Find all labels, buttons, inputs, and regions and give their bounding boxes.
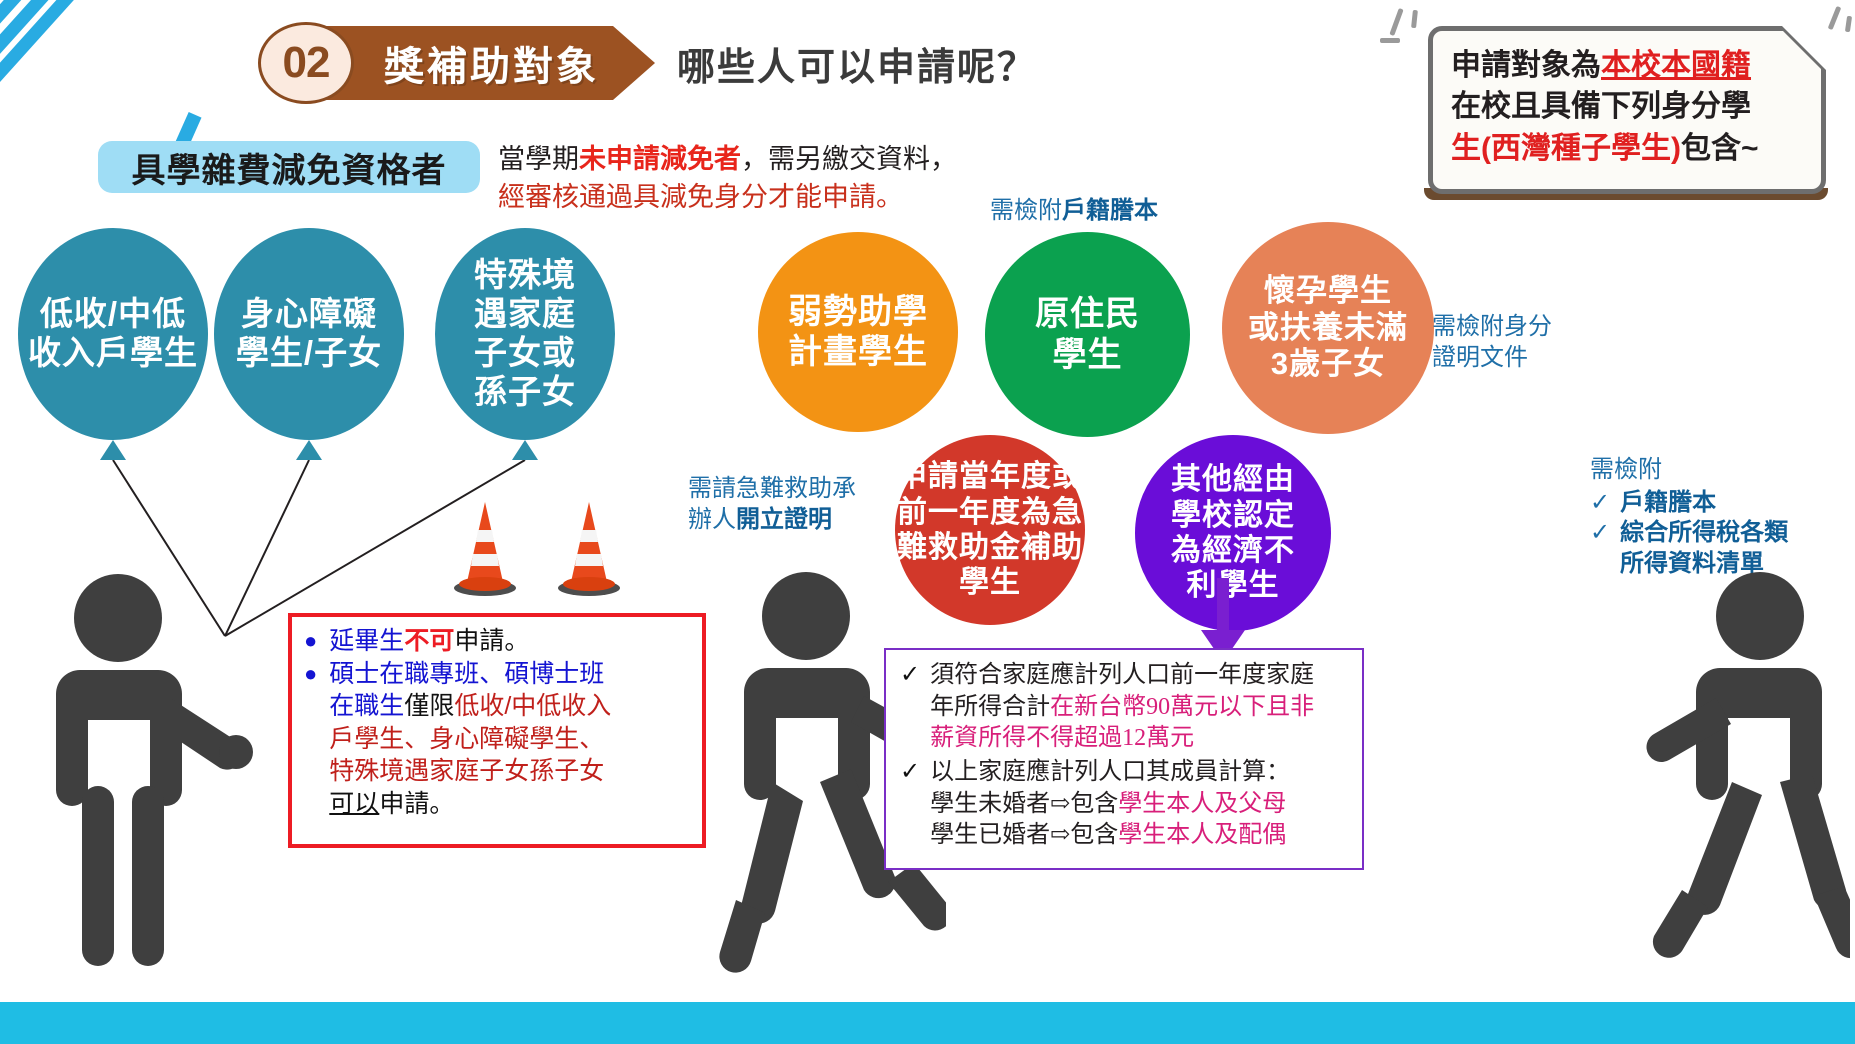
criteria-2-line2-black: 學生未婚者⇨包含 — [930, 791, 1118, 817]
sparkle-icon-left — [1380, 8, 1426, 52]
annotation-required-header: 需檢附 — [1590, 455, 1840, 486]
check-icon-1: ✓ — [1590, 488, 1610, 519]
circle-weak-support-plan-label: 弱勢助學 計畫學生 — [788, 292, 928, 372]
criteria-2-line3-pink: 學生本人及配偶 — [1118, 822, 1286, 848]
traffic-cone-icon-2 — [556, 498, 622, 596]
annotation-household-bold: 戶籍謄本 — [1062, 197, 1158, 224]
annotation-household-doc: 需檢附戶籍謄本 — [990, 196, 1158, 227]
exception-1-seg-black: 申請。 — [454, 627, 529, 655]
exception-2-line5-underline: 可以 — [329, 790, 379, 818]
annotation-required-item-1: ✓ 戶籍謄本 — [1590, 488, 1840, 519]
waiver-note-seg2: 未申請減免者 — [579, 144, 741, 174]
note-text-red: 生(西灣種子學生) — [1451, 132, 1681, 165]
criteria-item-1: ✓ 須符合家庭應計列人口前一年度家庭 年所得合計在新台幣90萬元以下且非 薪資所… — [900, 660, 1352, 755]
balloon-disability: 身心障礙 學生/子女 — [214, 228, 404, 440]
criteria-item-2: ✓ 以上家庭應計列人口其成員計算： 學生未婚者⇨包含學生本人及父母 學生已婚者⇨… — [900, 757, 1352, 852]
annotation-identity-line1: 需檢附身分 — [1432, 312, 1562, 343]
annotation-required-item-2: ✓ 綜合所得稅各類 — [1590, 518, 1840, 549]
note-text-highlight: 本校本國籍 — [1601, 49, 1751, 82]
criteria-1-line1: 須符合家庭應計列人口前一年度家庭 — [930, 662, 1314, 688]
section-number-badge: 02 — [258, 22, 354, 104]
balloon-special-circumstance: 特殊境 遇家庭 子女或 孫子女 — [435, 228, 615, 440]
exception-2-line4: 特殊境遇家庭子女孫子女 — [329, 757, 604, 785]
eligibility-exceptions-box: ● 延畢生不可申請。 ● 碩士在職專班、碩博士班 在職生僅限低收/中低收入 戶學… — [288, 613, 706, 848]
annotation-required-documents: 需檢附 ✓ 戶籍謄本 ✓ 綜合所得稅各類 所得資料清單 — [1590, 455, 1840, 580]
exception-item-1-text: 延畢生不可申請。 — [329, 625, 692, 658]
person-pictogram-right — [1620, 570, 1850, 1000]
section-title-label: 獎補助對象 — [384, 34, 599, 92]
balloon-low-income: 低收/中低 收入戶學生 — [18, 228, 208, 440]
balloon-disability-label: 身心障礙 學生/子女 — [236, 295, 382, 373]
waiver-note-seg3: ，需另繳交資料， — [741, 144, 957, 174]
exception-2-line2-red: 低收/中低收入 — [454, 692, 611, 720]
annotation-emergency-line2: 辦人開立證明 — [688, 505, 903, 536]
exception-2-line3: 戶學生、身心障礙學生、 — [329, 725, 604, 753]
exception-item-2-text: 碩士在職專班、碩博士班 在職生僅限低收/中低收入 戶學生、身心障礙學生、 特殊境… — [329, 658, 692, 821]
waiver-note-seg1: 當學期 — [498, 144, 579, 174]
balloon-knot-2 — [296, 440, 322, 460]
annotation-required-item-1-label: 戶籍謄本 — [1620, 488, 1716, 519]
section-number: 02 — [283, 38, 330, 88]
criteria-item-1-text: 須符合家庭應計列人口前一年度家庭 年所得合計在新台幣90萬元以下且非 薪資所得不… — [930, 660, 1352, 755]
exception-2-line2-black: 僅限 — [404, 692, 454, 720]
annotation-emergency-line2-bold: 開立證明 — [736, 506, 832, 533]
criteria-item-2-text: 以上家庭應計列人口其成員計算： 學生未婚者⇨包含學生本人及父母 學生已婚者⇨包含… — [930, 757, 1352, 852]
check-icon-criteria-1: ✓ — [900, 660, 920, 755]
tuition-waiver-badge-label: 具學雜費減免資格者 — [132, 143, 447, 192]
tuition-waiver-badge: 具學雜費減免資格者 — [98, 141, 480, 193]
annotation-emergency-line2-prefix: 辦人 — [688, 506, 736, 533]
person-pictogram-left — [40, 570, 260, 1000]
note-line-3: 生(西灣種子學生)包含~ — [1451, 128, 1807, 169]
waiver-note-seg4: 經審核通過具減免身分才能申請。 — [498, 182, 903, 212]
exception-item-2: ● 碩士在職專班、碩博士班 在職生僅限低收/中低收入 戶學生、身心障礙學生、 特… — [304, 658, 692, 821]
note-line-1: 申請對象為本校本國籍 — [1451, 45, 1807, 86]
footer-band — [0, 1002, 1855, 1044]
check-icon-2: ✓ — [1590, 518, 1610, 549]
circle-indigenous-label: 原住民 學生 — [1035, 294, 1140, 374]
criteria-2-line1: 以上家庭應計列人口其成員計算： — [930, 759, 1290, 785]
annotation-identity-line2: 證明文件 — [1432, 343, 1562, 374]
criteria-1-line3: 薪資所得不得超過12萬元 — [930, 725, 1194, 751]
balloon-low-income-label: 低收/中低 收入戶學生 — [28, 295, 198, 373]
exception-item-1: ● 延畢生不可申請。 — [304, 625, 692, 658]
criteria-1-line2-black: 年所得合計 — [930, 694, 1050, 720]
annotation-emergency-line1: 需請急難救助承 — [688, 474, 903, 505]
application-scope-note: 申請對象為本校本國籍 在校且具備下列身分學 生(西灣種子學生)包含~ — [1428, 26, 1826, 194]
slide-title: 02 獎補助對象 哪些人可以申請呢？ — [258, 22, 1037, 104]
exception-2-line1: 碩士在職專班、碩博士班 — [329, 660, 604, 688]
note-line-2: 在校且具備下列身分學 — [1451, 86, 1807, 127]
note-text-prefix: 申請對象為 — [1451, 49, 1601, 82]
annotation-identity-doc: 需檢附身分 證明文件 — [1432, 312, 1562, 373]
exception-2-line2-blue: 在職生 — [329, 692, 404, 720]
income-criteria-box: ✓ 須符合家庭應計列人口前一年度家庭 年所得合計在新台幣90萬元以下且非 薪資所… — [884, 648, 1364, 870]
slide-canvas: 02 獎補助對象 哪些人可以申請呢？ 申請對象為本校本國籍 在校且具備下列身分學… — [0, 0, 1855, 1044]
section-subtitle: 哪些人可以申請呢？ — [677, 36, 1037, 91]
bullet-icon-1: ● — [304, 625, 317, 658]
balloon-knot-1 — [100, 440, 126, 460]
balloon-knot-3 — [512, 440, 538, 460]
exception-2-line5: 申請。 — [379, 790, 454, 818]
exception-1-seg-red: 不可 — [404, 627, 454, 655]
annotation-household-prefix: 需檢附 — [990, 197, 1062, 224]
circle-weak-support-plan: 弱勢助學 計畫學生 — [758, 232, 958, 432]
balloon-special-circumstance-label: 特殊境 遇家庭 子女或 孫子女 — [474, 256, 576, 412]
traffic-cone-icon-1 — [452, 498, 518, 596]
circle-indigenous: 原住民 學生 — [985, 232, 1190, 437]
annotation-required-item-2-label: 綜合所得稅各類 — [1620, 518, 1788, 549]
exception-1-seg-blue: 延畢生 — [329, 627, 404, 655]
sparkle-icon-right — [1826, 6, 1855, 46]
criteria-2-line3-black: 學生已婚者⇨包含 — [930, 822, 1118, 848]
criteria-2-line2-pink: 學生本人及父母 — [1118, 791, 1286, 817]
circle-pregnant-or-caregiver-label: 懷孕學生 或扶養未滿 3歲子女 — [1248, 273, 1408, 383]
page-fold-icon — [1782, 26, 1826, 70]
annotation-emergency-doc: 需請急難救助承 辦人開立證明 — [688, 474, 903, 535]
bullet-icon-2: ● — [304, 658, 317, 821]
circle-pregnant-or-caregiver: 懷孕學生 或扶養未滿 3歲子女 — [1222, 222, 1434, 434]
section-title-chevron: 獎補助對象 — [324, 26, 655, 100]
check-icon-criteria-2: ✓ — [900, 757, 920, 852]
note-text-suffix: 包含~ — [1681, 132, 1759, 165]
waiver-note-paragraph: 當學期未申請減免者，需另繳交資料， 經審核通過具減免身分才能申請。 — [498, 140, 1008, 217]
criteria-1-line2-pink: 在新台幣90萬元以下且非 — [1050, 694, 1314, 720]
